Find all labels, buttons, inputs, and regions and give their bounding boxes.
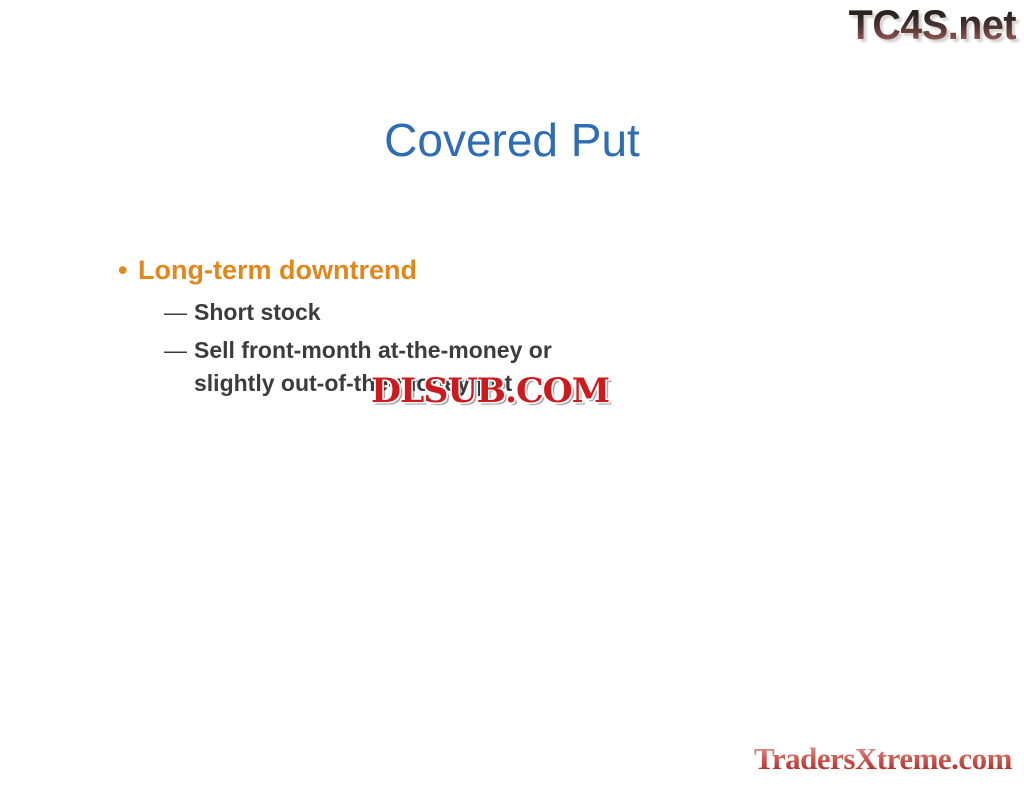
dlsub-watermark: DLSUB.COM xyxy=(371,372,609,410)
tradersxtreme-logo: TradersXtreme.com TradersXtreme.com xyxy=(754,741,1012,779)
bullet-dot-icon: • xyxy=(112,252,138,288)
tc4s-logo-text: TC4S.net xyxy=(849,2,1016,48)
page-title: Covered Put xyxy=(0,112,1024,168)
bullet-level1-label: Long-term downtrend xyxy=(138,252,812,288)
presentation-slide: TC4S.net TC4S.net Covered Put • Long-ter… xyxy=(0,0,1024,791)
bullet-level1: • Long-term downtrend xyxy=(112,252,812,288)
tradersxtreme-logo-text: TradersXtreme.com xyxy=(754,741,1012,777)
em-dash-icon: — xyxy=(164,334,194,367)
bullet-level2-label: Short stock xyxy=(194,296,634,329)
em-dash-icon: — xyxy=(164,296,194,329)
bullet-level2: — Short stock xyxy=(164,296,812,329)
